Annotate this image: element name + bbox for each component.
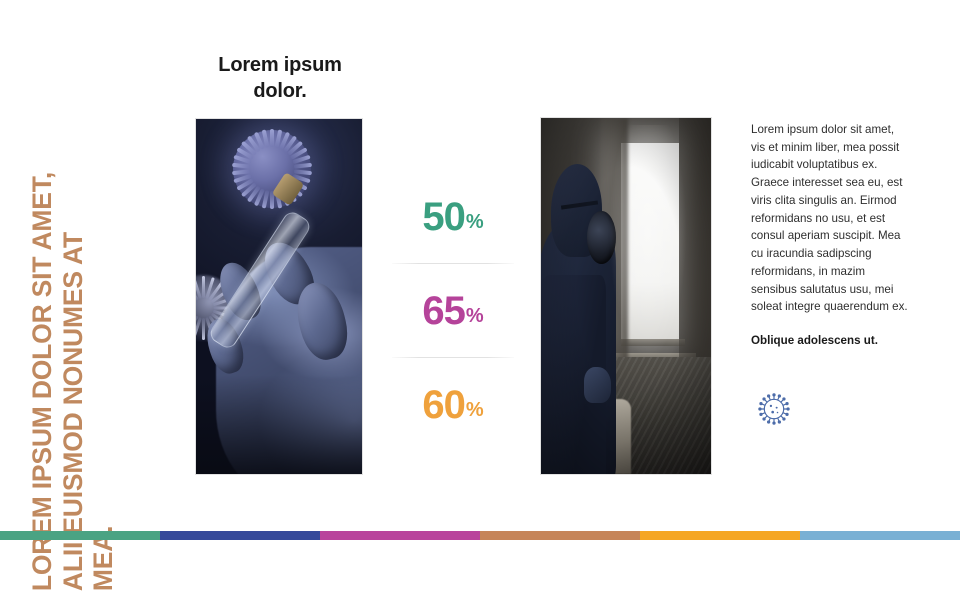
stat-value-3: 60 xyxy=(422,385,465,425)
left-photo-virus-spikes xyxy=(233,130,311,208)
right-photo-glove xyxy=(584,367,611,403)
vertical-side-title: LOREM IPSUM DOLOR SIT AMET, ALII EUISMOD… xyxy=(27,171,119,591)
stat-value-2: 65 xyxy=(422,291,465,331)
slide-canvas: LOREM IPSUM DOLOR SIT AMET, ALII EUISMOD… xyxy=(0,0,960,540)
stat-unit-3: % xyxy=(466,399,484,422)
right-photo-window-frame xyxy=(621,339,686,346)
right-photo xyxy=(541,118,711,474)
bottom-color-bar xyxy=(0,531,960,540)
left-photo-shadow-overlay xyxy=(196,375,362,474)
stat-item-3: 60 % xyxy=(392,358,514,451)
bottom-bar-segment-5 xyxy=(640,531,800,540)
bottom-bar-segment-1 xyxy=(0,531,160,540)
stat-item-1: 50 % xyxy=(392,170,514,263)
bottom-bar-segment-4 xyxy=(480,531,640,540)
right-photo-gas-mask xyxy=(587,211,616,264)
stat-value-1: 50 xyxy=(422,197,465,237)
bottom-bar-segment-2 xyxy=(160,531,320,540)
stat-unit-2: % xyxy=(466,305,484,328)
stat-unit-1: % xyxy=(466,211,484,234)
virus-icon xyxy=(752,387,796,431)
bottom-bar-segment-3 xyxy=(320,531,480,540)
page-title: Lorem ipsum dolor. xyxy=(196,52,364,104)
stat-item-2: 65 % xyxy=(392,264,514,357)
left-photo xyxy=(196,119,362,474)
right-photo-wall xyxy=(679,118,711,374)
text-column: Lorem ipsum dolor sit amet, vis et minim… xyxy=(751,121,909,347)
bottom-bar-segment-6 xyxy=(800,531,960,540)
right-photo-window xyxy=(621,143,679,342)
body-paragraph: Lorem ipsum dolor sit amet, vis et minim… xyxy=(751,121,909,316)
statistics-list: 50 % 65 % 60 % xyxy=(392,170,514,451)
sub-heading: Oblique adolescens ut. xyxy=(751,334,909,347)
vertical-title-container: LOREM IPSUM DOLOR SIT AMET, ALII EUISMOD… xyxy=(0,0,175,515)
